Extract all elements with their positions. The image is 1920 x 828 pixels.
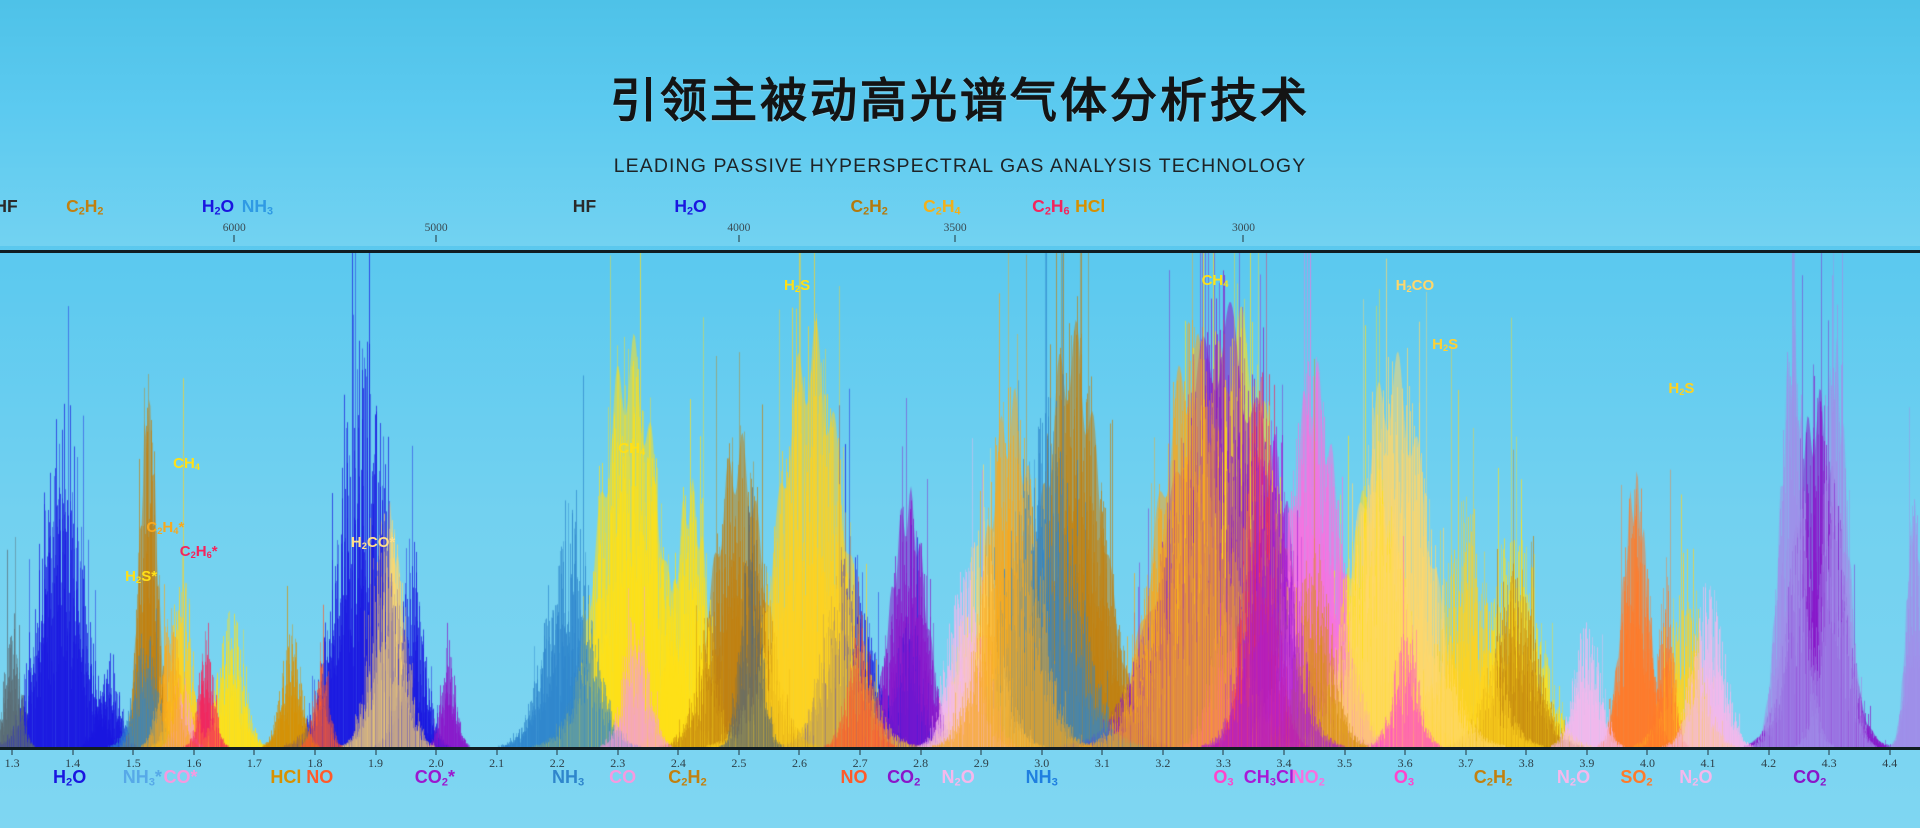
bottom-species-label: CO2 [1793,768,1826,789]
bottom-species-label: CO2 [887,768,920,789]
top-axis-tick: 6000 [223,222,246,242]
top-species-label: HF [573,198,596,216]
bottom-species-label: NH3 [1026,768,1058,789]
page-title: 引领主被动高光谱气体分析技术 [0,62,1920,131]
bottom-species-label: N2O [1679,768,1712,789]
top-species-label: H2O [202,198,234,217]
bottom-species-label: SO2 [1620,768,1652,789]
top-axis-tick: 3000 [1232,222,1255,242]
bottom-species-label: NH3 [552,768,584,789]
spectrum-canvas-container [0,253,1920,747]
top-species-label: C2H2 [850,198,887,217]
top-axis-tick: 5000 [425,222,448,242]
bottom-species-label: HCl [270,768,301,786]
top-species-label: C2H6 [1032,198,1069,217]
bottom-species-label: NO [841,768,868,786]
spectrum-plot-area: CH4C2H4*C2H6*H2S*H2CO*CH4H2SCH4H2COH2SH2… [0,250,1920,747]
top-species-label: HCl [1075,198,1105,216]
bottom-species-label: O3 [1213,768,1233,789]
top-species-label: C2H2 [66,198,103,217]
bottom-species-label: CH3Cl [1244,768,1294,789]
bottom-species-label: C2H2 [1474,768,1512,789]
bottom-species-label: NO2 [1292,768,1325,789]
top-species-label: H2O [674,198,706,217]
bottom-species-labels: H2ONH3*CO*HClNOCO2*NH3COC2H2NOCO2N2ONH3O… [0,768,1920,808]
top-axis-ticks: 60005000400035003000 [0,222,1920,250]
bottom-species-label: C2H2 [668,768,706,789]
top-species-label: NH3 [242,198,273,217]
bottom-species-label: CO [609,768,636,786]
bottom-species-label: H2O [53,768,86,789]
spectrum-canvas [0,253,1920,747]
bottom-species-label: O3 [1394,768,1414,789]
top-axis-tick: 3500 [944,222,967,242]
top-species-label: C2H4 [923,198,960,217]
page-subtitle: LEADING PASSIVE HYPERSPECTRAL GAS ANALYS… [0,155,1920,178]
bottom-species-label: N2O [942,768,975,789]
bottom-species-label: NO [306,768,333,786]
top-species-label: HF [0,198,18,216]
top-axis-tick: 4000 [727,222,750,242]
bottom-species-label: NH3* [123,768,162,789]
hyperspectral-poster: 引领主被动高光谱气体分析技术 LEADING PASSIVE HYPERSPEC… [0,0,1920,828]
bottom-species-label: CO2* [415,768,455,789]
bottom-species-label: CO* [163,768,197,786]
bottom-species-label: N2O [1557,768,1590,789]
